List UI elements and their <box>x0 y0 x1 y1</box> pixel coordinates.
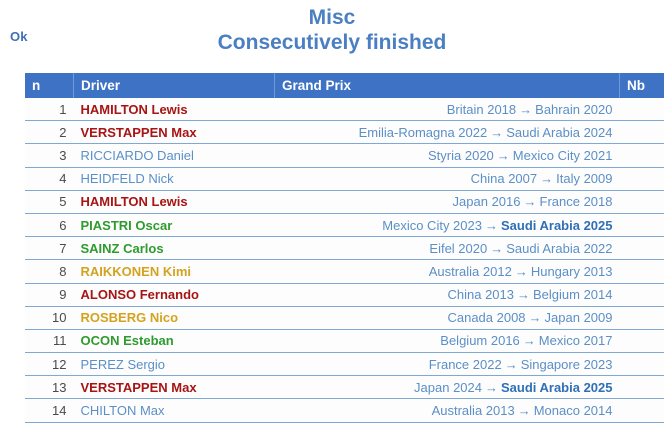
table-row[interactable]: 13VERSTAPPEN MaxJapan 2024→Saudi Arabia … <box>25 376 664 399</box>
cell-grand-prix: Australia 2013→Monaco 2014 <box>275 399 620 422</box>
cell-driver[interactable]: SAINZ Carlos <box>74 237 275 260</box>
cell-grand-prix: Canada 2008→Japan 2009 <box>275 306 620 329</box>
cell-grand-prix: Japan 2016→France 2018 <box>275 190 620 213</box>
cell-rank: 8 <box>25 260 74 283</box>
driver-name[interactable]: SAINZ Carlos <box>81 241 164 256</box>
gp-start: Eifel 2020 <box>429 241 487 256</box>
cell-count: 48 <box>620 98 664 121</box>
table-row[interactable]: 12PEREZ SergioFrance 2022→Singapore 2023… <box>25 353 664 376</box>
cell-grand-prix: Mexico City 2023→Saudi Arabia 2025 <box>275 213 620 236</box>
driver-name[interactable]: HAMILTON Lewis <box>81 102 188 117</box>
cell-count: 29 <box>620 283 664 306</box>
table-row[interactable]: 4HEIDFELD NickChina 2007→Italy 200933 <box>25 167 664 190</box>
cell-grand-prix: Styria 2020→Mexico City 2021 <box>275 144 620 167</box>
table-row[interactable]: 7SAINZ CarlosEifel 2020→Saudi Arabia 202… <box>25 237 664 260</box>
gp-end: Mexico 2017 <box>539 333 613 348</box>
driver-name[interactable]: PIASTRI Oscar <box>81 218 173 233</box>
gp-start: Britain 2018 <box>447 102 516 117</box>
cell-rank: 1 <box>25 98 74 121</box>
table-row[interactable]: 14CHILTON MaxAustralia 2013→Monaco 20142… <box>25 399 664 422</box>
arrow-icon: → <box>487 125 506 140</box>
column-header-grand-prix[interactable]: Grand Prix <box>275 73 620 98</box>
gp-start: China 2007 <box>471 171 538 186</box>
gp-end: Italy 2009 <box>556 171 612 186</box>
table-body: 1HAMILTON LewisBritain 2018→Bahrain 2020… <box>25 98 664 422</box>
driver-name[interactable]: RAIKKONEN Kimi <box>81 264 192 279</box>
cell-rank: 6 <box>25 213 74 236</box>
arrow-icon: → <box>537 171 556 186</box>
cell-driver[interactable]: PIASTRI Oscar <box>74 213 275 236</box>
cell-rank: 11 <box>25 329 74 352</box>
cell-rank: 13 <box>25 376 74 399</box>
gp-end: Singapore 2023 <box>521 357 613 372</box>
arrow-icon: → <box>514 287 533 302</box>
arrow-icon: → <box>521 194 540 209</box>
cell-grand-prix: China 2013→Belgium 2014 <box>275 283 620 306</box>
gp-end: Saudi Arabia 2025 <box>501 380 613 395</box>
cell-rank: 4 <box>25 167 74 190</box>
table-row[interactable]: 5HAMILTON LewisJapan 2016→France 201833 <box>25 190 664 213</box>
records-table: n Driver Grand Prix Nb 1HAMILTON LewisBr… <box>25 73 664 423</box>
gp-end: Saudi Arabia 2022 <box>506 241 612 256</box>
cell-rank: 9 <box>25 283 74 306</box>
title-subtitle: Consecutively finished <box>0 30 664 55</box>
column-header-driver[interactable]: Driver <box>74 73 275 98</box>
table-row[interactable]: 9ALONSO FernandoChina 2013→Belgium 20142… <box>25 283 664 306</box>
driver-name[interactable]: HEIDFELD Nick <box>81 171 174 186</box>
driver-name[interactable]: RICCIARDO Daniel <box>81 148 194 163</box>
arrow-icon: → <box>520 333 539 348</box>
gp-start: Mexico City 2023 <box>382 218 482 233</box>
gp-end: Belgium 2014 <box>533 287 613 302</box>
cell-count: 31 <box>620 237 664 260</box>
gp-start: France 2022 <box>429 357 502 372</box>
cell-driver[interactable]: RICCIARDO Daniel <box>74 144 275 167</box>
gp-start: Canada 2008 <box>447 310 525 325</box>
cell-count: 27 <box>620 306 664 329</box>
gp-start: Emilia-Romagna 2022 <box>359 125 488 140</box>
cell-rank: 12 <box>25 353 74 376</box>
cell-count: 33 <box>620 167 664 190</box>
cell-grand-prix: Britain 2018→Bahrain 2020 <box>275 98 620 121</box>
arrow-icon: → <box>494 148 513 163</box>
cell-grand-prix: Emilia-Romagna 2022→Saudi Arabia 2024 <box>275 121 620 144</box>
gp-end: Mexico City 2021 <box>513 148 613 163</box>
arrow-icon: → <box>502 357 521 372</box>
cell-rank: 14 <box>25 399 74 422</box>
cell-count: 34 <box>620 144 664 167</box>
gp-start: China 2013 <box>448 287 515 302</box>
gp-start: Japan 2016 <box>453 194 521 209</box>
table-header: n Driver Grand Prix Nb <box>25 73 664 98</box>
cell-driver[interactable]: OCON Esteban <box>74 329 275 352</box>
cell-count: 26 <box>620 353 664 376</box>
cell-count: 25 <box>620 399 664 422</box>
cell-grand-prix: Belgium 2016→Mexico 2017 <box>275 329 620 352</box>
cell-driver[interactable]: VERSTAPPEN Max <box>74 376 275 399</box>
driver-name[interactable]: ALONSO Fernando <box>81 287 199 302</box>
cell-count: 26 <box>620 376 664 399</box>
arrow-icon: → <box>516 102 535 117</box>
status-label: Ok <box>10 29 28 44</box>
table-row[interactable]: 8RAIKKONEN KimiAustralia 2012→Hungary 20… <box>25 260 664 283</box>
driver-name[interactable]: HAMILTON Lewis <box>81 194 188 209</box>
gp-start: Belgium 2016 <box>440 333 520 348</box>
driver-name[interactable]: PEREZ Sergio <box>81 357 166 372</box>
gp-end: Saudi Arabia 2025 <box>501 218 613 233</box>
driver-name[interactable]: VERSTAPPEN Max <box>81 125 197 140</box>
column-header-nb[interactable]: Nb <box>620 73 664 98</box>
cell-grand-prix: China 2007→Italy 2009 <box>275 167 620 190</box>
arrow-icon: → <box>512 264 531 279</box>
cell-grand-prix: Australia 2012→Hungary 2013 <box>275 260 620 283</box>
column-header-n[interactable]: n <box>25 73 74 98</box>
gp-end: Saudi Arabia 2024 <box>506 125 612 140</box>
gp-start: Australia 2013 <box>432 403 515 418</box>
arrow-icon: → <box>515 403 534 418</box>
cell-rank: 5 <box>25 190 74 213</box>
cell-rank: 7 <box>25 237 74 260</box>
cell-rank: 10 <box>25 306 74 329</box>
gp-start: Australia 2012 <box>429 264 512 279</box>
cell-driver[interactable]: CHILTON Max <box>74 399 275 422</box>
arrow-icon: → <box>526 310 545 325</box>
cell-driver[interactable]: RAIKKONEN Kimi <box>74 260 275 283</box>
gp-end: Monaco 2014 <box>534 403 613 418</box>
driver-name[interactable]: ROSBERG Nico <box>81 310 179 325</box>
cell-grand-prix: France 2022→Singapore 2023 <box>275 353 620 376</box>
cell-count: 30 <box>620 260 664 283</box>
table-header-row: n Driver Grand Prix Nb <box>25 73 664 98</box>
gp-end: Hungary 2013 <box>531 264 613 279</box>
table-row[interactable]: 11OCON EstebanBelgium 2016→Mexico 201727 <box>25 329 664 352</box>
table-row[interactable]: 1HAMILTON LewisBritain 2018→Bahrain 2020… <box>25 98 664 121</box>
gp-end: Japan 2009 <box>545 310 613 325</box>
gp-start: Styria 2020 <box>428 148 494 163</box>
cell-driver[interactable]: ALONSO Fernando <box>74 283 275 306</box>
cell-driver[interactable]: HAMILTON Lewis <box>74 98 275 121</box>
page-title: Misc Consecutively finished <box>0 0 664 55</box>
gp-end: France 2018 <box>540 194 613 209</box>
cell-grand-prix: Japan 2024→Saudi Arabia 2025 <box>275 376 620 399</box>
cell-driver[interactable]: HAMILTON Lewis <box>74 190 275 213</box>
cell-grand-prix: Eifel 2020→Saudi Arabia 2022 <box>275 237 620 260</box>
cell-count: 43 <box>620 121 664 144</box>
arrow-icon: → <box>482 218 501 233</box>
cell-rank: 3 <box>25 144 74 167</box>
table-row[interactable]: 10ROSBERG NicoCanada 2008→Japan 200927 <box>25 306 664 329</box>
driver-name[interactable]: OCON Esteban <box>81 333 174 348</box>
cell-count: 33 <box>620 190 664 213</box>
driver-name[interactable]: CHILTON Max <box>81 403 165 418</box>
title-main: Misc <box>0 6 664 30</box>
table-row[interactable]: 3RICCIARDO DanielStyria 2020→Mexico City… <box>25 144 664 167</box>
table-row[interactable]: 6PIASTRI OscarMexico City 2023→Saudi Ara… <box>25 213 664 236</box>
cell-rank: 2 <box>25 121 74 144</box>
cell-count: 33 <box>620 213 664 236</box>
gp-end: Bahrain 2020 <box>535 102 612 117</box>
cell-driver[interactable]: ROSBERG Nico <box>74 306 275 329</box>
cell-driver[interactable]: VERSTAPPEN Max <box>74 121 275 144</box>
cell-count: 27 <box>620 329 664 352</box>
cell-driver[interactable]: HEIDFELD Nick <box>74 167 275 190</box>
table-row[interactable]: 2VERSTAPPEN MaxEmilia-Romagna 2022→Saudi… <box>25 121 664 144</box>
cell-driver[interactable]: PEREZ Sergio <box>74 353 275 376</box>
driver-name[interactable]: VERSTAPPEN Max <box>81 380 197 395</box>
arrow-icon: → <box>487 241 506 256</box>
gp-start: Japan 2024 <box>414 380 482 395</box>
arrow-icon: → <box>482 380 501 395</box>
